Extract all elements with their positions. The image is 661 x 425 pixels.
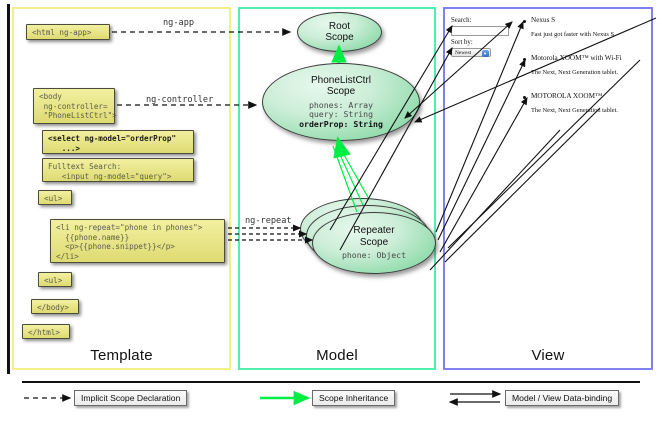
view-phone-name: Motorola XOOM™ with Wi-Fi [531, 54, 622, 62]
view-search-label: Search: [451, 17, 471, 24]
list-bullet [523, 20, 526, 23]
view-phone-name: Nexus S [531, 16, 555, 24]
view-sort-label: Sort by: [451, 39, 473, 46]
view-phone-snippet: Fast just got faster with Nexus S. [531, 31, 616, 38]
scope-root: RootScope [297, 12, 382, 52]
view-browser-pane: Search: Sort by: Newest Nexus S Fast jus… [449, 13, 647, 343]
scope-repeater-properties: phone: Object [342, 251, 406, 260]
code-box-ul-open: <ul> [38, 190, 72, 205]
column-label-model: Model [240, 347, 434, 364]
scope-phonelistctrl-properties: phones: Array query: String orderProp: S… [299, 101, 383, 129]
column-template: Template [12, 7, 231, 370]
left-rule [7, 4, 10, 374]
relation-label-ng-app: ng-app [163, 18, 194, 28]
scope-repeater: RepeaterScope phone: Object [312, 212, 436, 274]
code-box-ul-close: <ul> [38, 272, 72, 287]
chevron-updown-icon [482, 50, 489, 57]
column-label-template: Template [14, 347, 229, 364]
scope-root-title: RootScope [325, 21, 353, 44]
code-box-body-close: </body> [31, 299, 79, 314]
scope-phonelistctrl: PhoneListCtrlScope phones: Array query: … [262, 63, 420, 141]
column-model: Model [238, 7, 436, 370]
list-bullet [523, 58, 526, 61]
code-box-html: <html ng-app> [26, 24, 110, 40]
relation-label-ng-controller: ng-controller [146, 95, 213, 105]
code-box-search-input: Fulltext Search: <input ng-model="query"… [42, 158, 194, 182]
code-box-select: <select ng-model="orderProp" ...> [42, 130, 194, 154]
code-box-li-repeat: <li ng-repeat="phone in phones"> {{phone… [50, 219, 225, 263]
view-sort-select[interactable]: Newest [451, 48, 491, 57]
scope-repeater-title: RepeaterScope [353, 225, 394, 248]
diagram-canvas: Template Model View <html ng-app> <body … [0, 0, 661, 425]
relation-label-ng-repeat: ng-repeat [245, 216, 292, 226]
code-box-html-close: </html> [22, 324, 70, 339]
column-label-view: View [445, 347, 651, 364]
legend-divider [22, 381, 640, 383]
legend-item-implicit-scope: Implicit Scope Declaration [74, 390, 187, 406]
list-bullet [523, 96, 526, 99]
legend-item-scope-inheritance: Scope Inheritance [312, 390, 395, 406]
view-phone-snippet: The Next, Next Generation tablet. [531, 69, 618, 76]
scope-phonelistctrl-title: PhoneListCtrlScope [311, 75, 371, 98]
view-search-input[interactable] [451, 26, 509, 36]
view-phone-name: MOTOROLA XOOM™ [531, 92, 602, 100]
view-sort-select-value: Newest [455, 50, 471, 56]
legend-item-data-binding: Model / View Data-binding [505, 390, 619, 406]
view-phone-snippet: The Next, Next Generation tablet. [531, 107, 618, 114]
code-box-body: <body ng-controller= "PhoneListCtrl"> [33, 88, 115, 124]
